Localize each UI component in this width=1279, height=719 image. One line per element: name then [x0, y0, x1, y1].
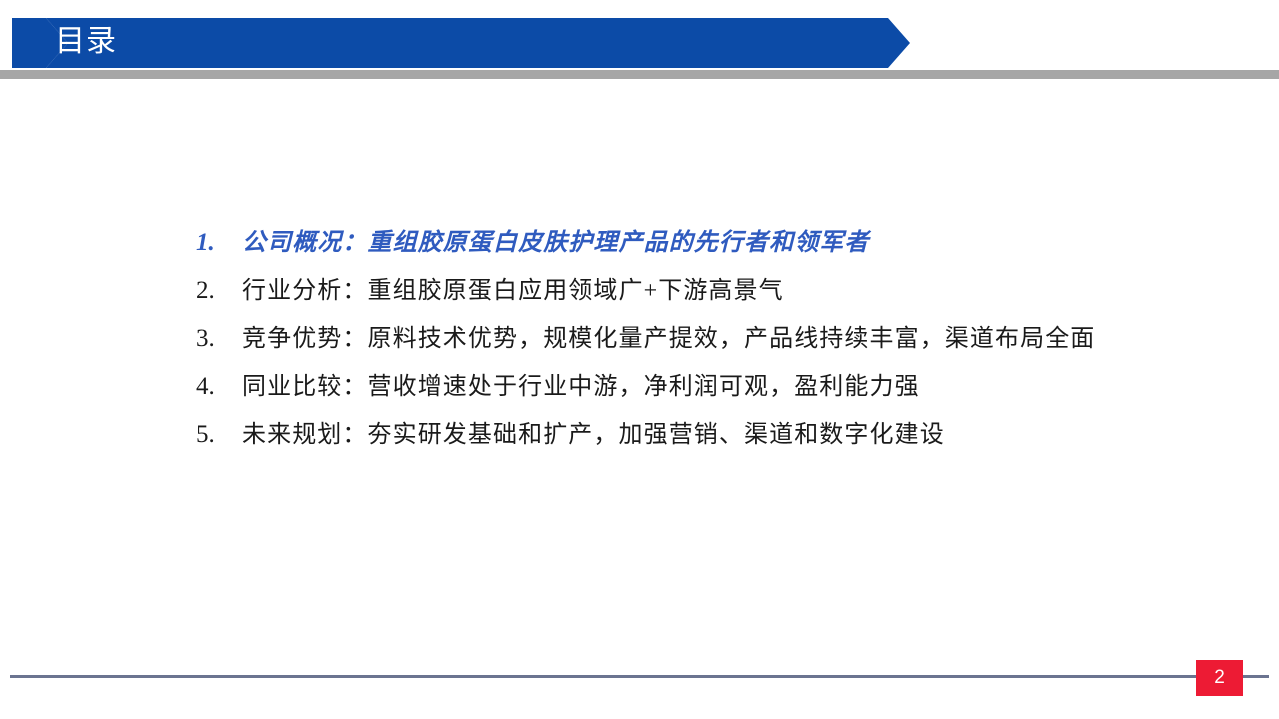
- agenda-item-number: 3.: [196, 325, 242, 353]
- page-title: 目录: [55, 19, 117, 65]
- header-banner-shape: [10, 16, 920, 70]
- agenda-item-3[interactable]: 3. 竞争优势：原料技术优势，规模化量产提效，产品线持续丰富，渠道布局全面: [196, 318, 1216, 366]
- agenda-item-label: 同业比较：营收增速处于行业中游，净利润可观，盈利能力强: [242, 366, 920, 401]
- agenda-item-5[interactable]: 5. 未来规划：夯实研发基础和扩产，加强营销、渠道和数字化建设: [196, 414, 1216, 462]
- footer-divider: [10, 675, 1269, 678]
- agenda-item-label: 行业分析：重组胶原蛋白应用领域广+下游高景气: [242, 270, 784, 305]
- agenda-item-label: 公司概况：重组胶原蛋白皮肤护理产品的先行者和领军者: [242, 222, 870, 257]
- agenda-item-number: 1.: [196, 229, 242, 257]
- agenda-item-2[interactable]: 2. 行业分析：重组胶原蛋白应用领域广+下游高景气: [196, 270, 1216, 318]
- agenda-item-number: 5.: [196, 421, 242, 449]
- agenda-item-label: 竞争优势：原料技术优势，规模化量产提效，产品线持续丰富，渠道布局全面: [242, 318, 1095, 353]
- agenda-item-number: 2.: [196, 277, 242, 305]
- agenda-item-number: 4.: [196, 373, 242, 401]
- page-number-badge: 2: [1196, 660, 1243, 696]
- slide-header: 目录: [0, 0, 1279, 80]
- agenda-item-label: 未来规划：夯实研发基础和扩产，加强营销、渠道和数字化建设: [242, 414, 945, 449]
- agenda-item-1[interactable]: 1. 公司概况：重组胶原蛋白皮肤护理产品的先行者和领军者: [196, 222, 1216, 270]
- header-underbar: [0, 70, 1279, 79]
- agenda-list: 1. 公司概况：重组胶原蛋白皮肤护理产品的先行者和领军者 2. 行业分析：重组胶…: [196, 222, 1216, 462]
- agenda-item-4[interactable]: 4. 同业比较：营收增速处于行业中游，净利润可观，盈利能力强: [196, 366, 1216, 414]
